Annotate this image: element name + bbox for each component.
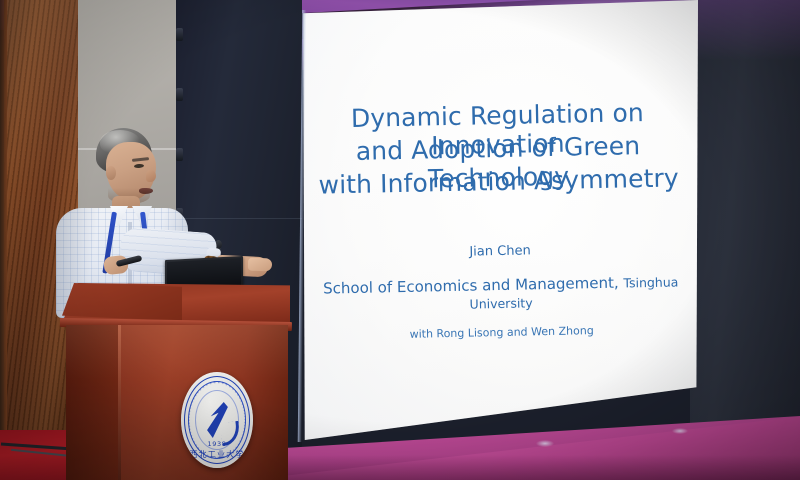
slide-coauthors: with Rong Lisong and Wen Zhong	[303, 322, 701, 343]
slide-presenter-name: Jian Chen	[301, 240, 699, 263]
podium-top-left-face	[62, 283, 182, 321]
presentation-photo-scene: Dynamic Regulation on Innovation and Ado…	[0, 0, 800, 480]
led-wall-right-glow	[690, 0, 800, 60]
dark-led-wall-right	[690, 0, 800, 430]
podium-gloss	[66, 325, 288, 480]
wood-wall-edge	[0, 0, 7, 480]
slide-content: Dynamic Regulation on Innovation and Ado…	[296, 0, 703, 444]
wall-clip	[176, 148, 183, 161]
wall-clip	[176, 28, 183, 41]
emblem-chinese-name: 西北工业大学	[181, 449, 253, 460]
speaker-fingers	[248, 258, 272, 272]
affiliation-main: School of Economics and Management,	[323, 274, 624, 298]
wall-clip	[176, 88, 183, 101]
university-emblem: 1938 西北工业大学	[181, 372, 253, 468]
slide-affiliation: School of Economics and Management, Tsin…	[302, 272, 701, 316]
floor-reflection	[672, 428, 688, 434]
floor-reflection	[536, 440, 554, 447]
speaker-ear	[106, 166, 116, 180]
floor-shadow	[280, 455, 800, 480]
emblem-year: 1938	[181, 440, 253, 448]
led-wall-seam	[176, 218, 302, 219]
